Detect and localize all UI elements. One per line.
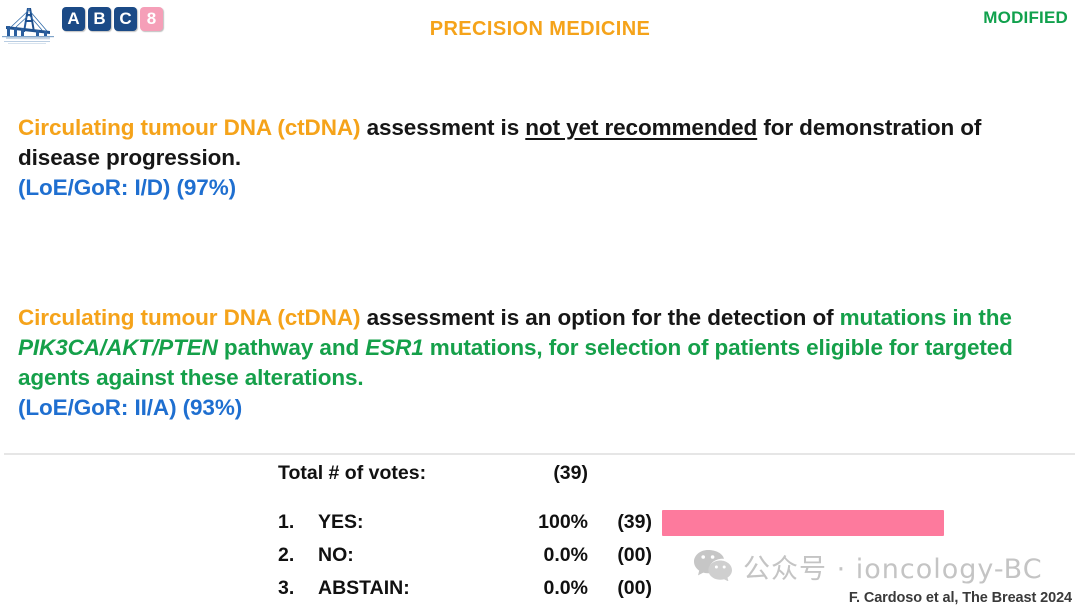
recommendation-statement-1: Circulating tumour DNA (ctDNA) assessmen…	[18, 113, 1053, 203]
slide-title: PRECISION MEDICINE	[0, 18, 1080, 41]
vote-row-yes-number: 1.	[278, 511, 318, 534]
footer-citation: F. Cardoso et al, The Breast 2024	[849, 590, 1072, 606]
statement-2-text-a: assessment is an option for the detectio…	[367, 305, 840, 330]
section-divider	[4, 453, 1075, 455]
statement-2-green-a: mutations in the	[840, 305, 1012, 330]
statement-2-highlight: Circulating tumour DNA (ctDNA)	[18, 305, 367, 330]
statement-2-loe-gor: (LoE/GoR: II/A) (93%)	[18, 393, 1053, 423]
vote-bar-yes	[662, 510, 944, 536]
vote-row-yes-percent: 100%	[492, 511, 588, 534]
vote-row-no-label: NO:	[318, 544, 492, 567]
vote-total-count: (39)	[528, 462, 588, 485]
statement-1-text-a: assessment is	[367, 115, 526, 140]
vote-row-yes-bar-slot	[662, 510, 982, 536]
vote-row-yes-count: (39)	[588, 511, 652, 534]
vote-row-abstain-label: ABSTAIN:	[318, 577, 492, 600]
statement-1-underlined: not yet recommended	[525, 115, 757, 140]
statement-2-green-b: pathway and	[218, 335, 365, 360]
statement-2-gene-esr1: ESR1	[365, 335, 423, 360]
vote-row-abstain-number: 3.	[278, 577, 318, 600]
vote-row-abstain-percent: 0.0%	[492, 577, 588, 600]
vote-row-no-percent: 0.0%	[492, 544, 588, 567]
modified-badge: MODIFIED	[983, 8, 1068, 28]
vote-results-panel: Total # of votes: (39) 1. YES: 100% (39)…	[278, 462, 982, 605]
vote-row-no-number: 2.	[278, 544, 318, 567]
vote-row-no: 2. NO: 0.0% (00)	[278, 539, 982, 572]
statement-2-gene-pathway: PIK3CA/AKT/PTEN	[18, 335, 218, 360]
statement-1-highlight: Circulating tumour DNA (ctDNA)	[18, 115, 367, 140]
vote-row-yes-label: YES:	[318, 511, 492, 534]
statement-1-loe-gor: (LoE/GoR: I/D) (97%)	[18, 173, 1053, 203]
vote-row-no-count: (00)	[588, 544, 652, 567]
vote-row-yes: 1. YES: 100% (39)	[278, 506, 982, 539]
vote-row-abstain-count: (00)	[588, 577, 652, 600]
recommendation-statement-2: Circulating tumour DNA (ctDNA) assessmen…	[18, 303, 1053, 423]
slide-header: A B C 8 PRECISION MEDICINE MODIFIED	[0, 0, 1080, 58]
vote-row-no-bar-slot	[662, 543, 982, 569]
vote-total-row: Total # of votes: (39)	[278, 462, 982, 492]
vote-total-label: Total # of votes:	[278, 462, 528, 485]
